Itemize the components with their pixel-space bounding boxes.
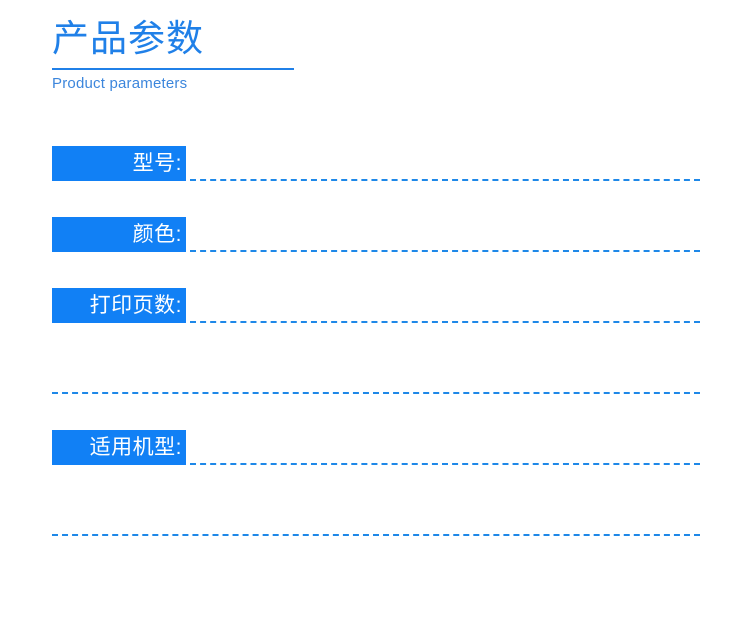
parameter-label-badge: 适用机型:	[52, 430, 186, 465]
parameter-row-continuation	[0, 359, 750, 430]
parameter-label-badge: 型号:	[52, 146, 186, 181]
parameter-label-badge: 颜色:	[52, 217, 186, 252]
parameter-value-dashed-line	[190, 321, 700, 323]
product-parameters-page: 产品参数 Product parameters 型号: 颜色: 打印页数:	[0, 0, 750, 629]
parameter-row-model: 型号:	[0, 146, 750, 217]
page-title: 产品参数	[52, 16, 302, 62]
parameter-row-print-pages: 打印页数:	[0, 288, 750, 359]
parameter-label-text: 打印页数:	[90, 293, 182, 319]
parameter-value-dashed-line	[190, 463, 700, 465]
parameter-list: 型号: 颜色: 打印页数: 适用机型:	[0, 146, 750, 572]
parameter-label-text: 颜色:	[133, 222, 182, 248]
page-subtitle: Product parameters	[52, 74, 302, 94]
header-divider	[52, 68, 294, 70]
page-header: 产品参数 Product parameters	[52, 16, 302, 94]
parameter-value-dashed-line	[52, 392, 700, 394]
parameter-value-dashed-line	[190, 250, 700, 252]
parameter-label-text: 适用机型:	[90, 435, 182, 461]
parameter-row-color: 颜色:	[0, 217, 750, 288]
parameter-value-dashed-line	[190, 179, 700, 181]
parameter-value-dashed-line	[52, 534, 700, 536]
parameter-label-text: 型号:	[133, 151, 182, 177]
parameter-row-compatible-models: 适用机型:	[0, 430, 750, 501]
parameter-row-continuation	[0, 501, 750, 572]
parameter-label-badge: 打印页数:	[52, 288, 186, 323]
